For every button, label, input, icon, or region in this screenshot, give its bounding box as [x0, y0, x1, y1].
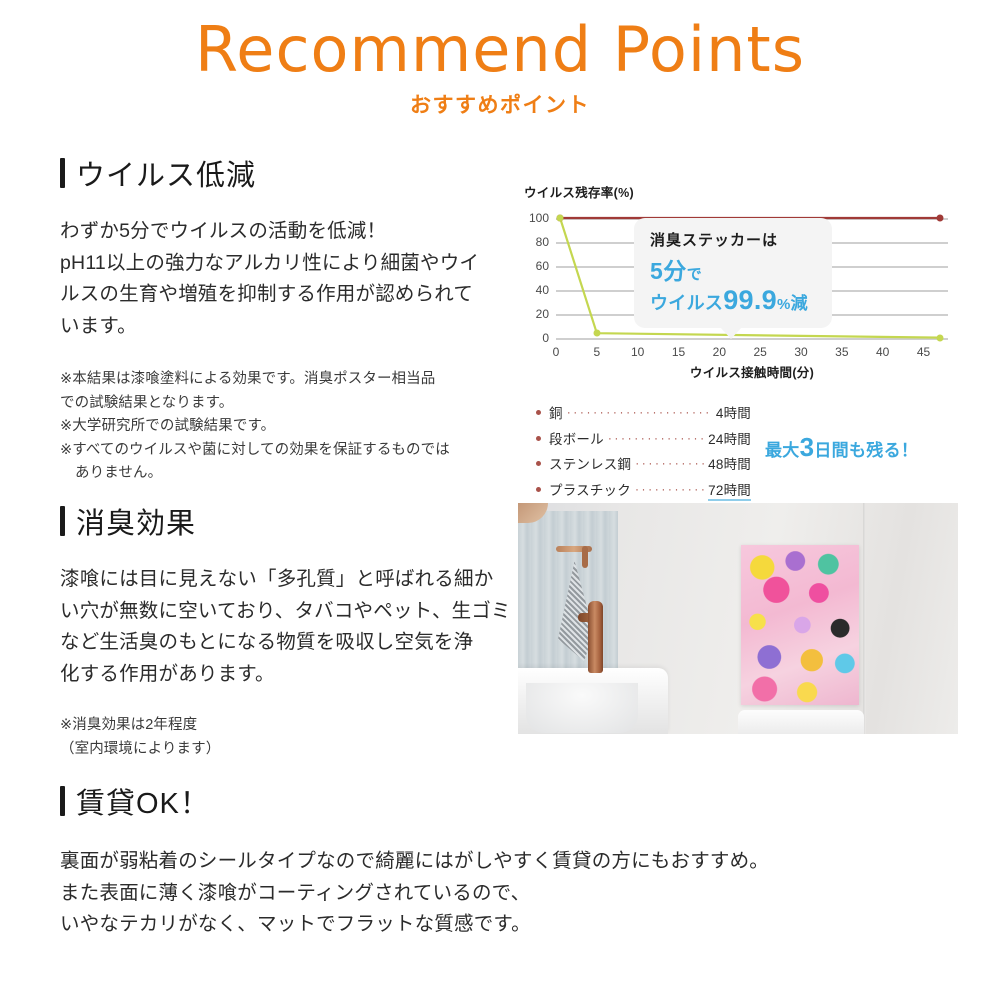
- section-heading: 消臭効果: [60, 500, 520, 542]
- sticker-collage-poster: [741, 545, 859, 705]
- leader-dots: ········································: [608, 431, 704, 445]
- chart-gridline: [556, 338, 948, 340]
- toilet-tank: [738, 710, 864, 734]
- body-line: います。: [60, 311, 520, 343]
- chart-y-axis-label: ウイルス残存率(%): [524, 182, 956, 201]
- chart-y-tick: 80: [536, 235, 549, 249]
- callout-percent-number: 99.9: [723, 285, 777, 315]
- bullet-dot-icon: [536, 461, 541, 466]
- bathroom-poster-photo: [518, 503, 958, 734]
- max-suffix: 日間も残る！: [814, 441, 918, 460]
- callout-minutes: 5分: [650, 258, 687, 284]
- chart-y-tick: 40: [536, 283, 549, 297]
- section-deodorizing-effect: 消臭効果 漆喰には目に見えない「多孔質」と呼ばれる細か い穴が無数に空いており、…: [60, 500, 520, 761]
- page-subtitle: おすすめポイント: [0, 89, 1000, 119]
- material-name: プラスチック: [549, 479, 631, 499]
- chart-data-point: [557, 215, 564, 222]
- material-duration: 4時間: [716, 402, 751, 422]
- callout-line-1: 消臭ステッカーは: [650, 229, 818, 250]
- note-line: ありません。: [60, 462, 520, 485]
- note-line: での試験結果となります。: [60, 392, 520, 415]
- note-line: ※大学研究所での試験結果です。: [60, 415, 520, 438]
- material-duration: 24時間: [708, 428, 751, 448]
- section-body: 裏面が弱粘着のシールタイプなので綺麗にはがしやすく賃貸の方にもおすすめ。 また表…: [60, 846, 940, 941]
- survival-row: 銅·······································…: [536, 402, 751, 422]
- leader-dots: ········································: [635, 482, 704, 496]
- infographic-page: Recommend Points おすすめポイント ウイルス低減 わずか5分でウ…: [0, 0, 1000, 1000]
- page-title: Recommend Points: [0, 18, 1000, 81]
- survival-row: プラスチック··································…: [536, 479, 751, 501]
- section-virus-reduction: ウイルス低減 わずか5分でウイルスの活動を低減！ pH11以上の強力なアルカリ性…: [60, 152, 520, 486]
- section-heading: ウイルス低減: [60, 152, 520, 194]
- sink-basin: [526, 683, 638, 733]
- body-line: ルスの生育や増殖を抑制する作用が認められて: [60, 279, 520, 311]
- chart-x-tick: 10: [631, 345, 644, 359]
- callout-line-3: ウイルス99.9%減: [650, 285, 818, 316]
- note-line: （室内環境によります）: [60, 738, 520, 761]
- survival-row: 段ボール····································…: [536, 428, 751, 448]
- chart-y-tick: 0: [542, 331, 549, 345]
- chart-x-tick: 20: [713, 345, 726, 359]
- callout-percent-sign: %: [777, 296, 791, 313]
- callout-minutes-tail: で: [687, 266, 703, 283]
- material-name: 段ボール: [549, 428, 604, 448]
- section-notes: ※本結果は漆喰塗料による効果です。消臭ポスター相当品 での試験結果となります。 …: [60, 368, 520, 485]
- chart-x-axis-label: ウイルス接触時間(分): [556, 362, 948, 381]
- body-line: わずか5分でウイルスの活動を低減！: [60, 216, 520, 248]
- section-title: 賃貸OK！: [76, 780, 210, 822]
- callout-reduce-kanji: 減: [791, 294, 808, 313]
- body-line: いやなテカリがなく、マットでフラットな質感です。: [60, 909, 940, 941]
- callout-virus-kana: ウイルス: [650, 293, 723, 313]
- material-duration: 72時間: [708, 479, 751, 501]
- bullet-dot-icon: [536, 410, 541, 415]
- leader-dots: ········································: [567, 405, 712, 419]
- max-duration-callout: 最大3日間も残る！: [765, 432, 918, 463]
- body-line: など生活臭のもとになる物質を吸収し空気を浄: [60, 627, 520, 659]
- body-line: また表面に薄く漆喰がコーティングされているので、: [60, 878, 940, 910]
- chart-x-tick: 35: [835, 345, 848, 359]
- bullet-dot-icon: [536, 436, 541, 441]
- wall-seam: [863, 503, 866, 734]
- bullet-dot-icon: [536, 487, 541, 492]
- body-line: 漆喰には目に見えない「多孔質」と呼ばれる細か: [60, 564, 520, 596]
- survival-duration-list: 銅·······································…: [536, 402, 751, 506]
- body-line: 化する作用があります。: [60, 659, 520, 691]
- section-body: わずか5分でウイルスの活動を低減！ pH11以上の強力なアルカリ性により細菌やウ…: [60, 216, 520, 342]
- note-line: ※消臭効果は2年程度: [60, 714, 520, 737]
- chart-plot-area: 020406080100051015202530354045 消臭ステッカーは …: [524, 210, 956, 370]
- body-line: pH11以上の強力なアルカリ性により細菌やウイ: [60, 248, 520, 280]
- note-line: ※すべてのウイルスや菌に対しての効果を保証するものでは: [60, 439, 520, 462]
- heading-accent-bar: [60, 786, 65, 816]
- callout-line-2: 5分で: [650, 252, 818, 286]
- chart-x-tick: 45: [917, 345, 930, 359]
- virus-survival-chart: ウイルス残存率(%) 02040608010005101520253035404…: [524, 182, 956, 370]
- section-heading: 賃貸OK！: [60, 780, 940, 822]
- chart-callout-bubble: 消臭ステッカーは 5分で ウイルス99.9%減: [634, 218, 832, 328]
- material-name: 銅: [549, 402, 563, 422]
- body-line: 裏面が弱粘着のシールタイプなので綺麗にはがしやすく賃貸の方にもおすすめ。: [60, 846, 940, 878]
- faucet-body: [588, 601, 603, 673]
- survival-row: ステンレス鋼··································…: [536, 453, 751, 473]
- section-title: ウイルス低減: [76, 152, 256, 194]
- chart-data-point: [936, 334, 943, 341]
- chart-x-tick: 0: [553, 345, 560, 359]
- section-rental-ok: 賃貸OK！ 裏面が弱粘着のシールタイプなので綺麗にはがしやすく賃貸の方にもおすす…: [60, 780, 940, 941]
- chart-x-tick: 30: [794, 345, 807, 359]
- heading-accent-bar: [60, 158, 65, 188]
- chart-x-tick: 5: [593, 345, 600, 359]
- section-notes: ※消臭効果は2年程度 （室内環境によります）: [60, 714, 520, 761]
- chart-y-tick: 20: [536, 307, 549, 321]
- chart-x-tick: 15: [672, 345, 685, 359]
- chart-y-tick: 60: [536, 259, 549, 273]
- leader-dots: ········································: [635, 456, 704, 470]
- section-title: 消臭効果: [76, 500, 196, 542]
- chart-data-point: [936, 215, 943, 222]
- heading-accent-bar: [60, 506, 65, 536]
- chart-x-tick: 25: [753, 345, 766, 359]
- material-duration: 48時間: [708, 453, 751, 473]
- chart-x-tick: 40: [876, 345, 889, 359]
- max-prefix: 最大: [765, 441, 800, 460]
- note-line: ※本結果は漆喰塗料による効果です。消臭ポスター相当品: [60, 368, 520, 391]
- body-line: い穴が無数に空いており、タバコやペット、生ゴミ: [60, 596, 520, 628]
- chart-y-tick: 100: [529, 211, 549, 225]
- max-days-number: 3: [800, 432, 815, 462]
- page-header: Recommend Points おすすめポイント: [0, 18, 1000, 119]
- material-name: ステンレス鋼: [549, 453, 631, 473]
- section-body: 漆喰には目に見えない「多孔質」と呼ばれる細か い穴が無数に空いており、タバコやペ…: [60, 564, 520, 690]
- chart-data-point: [593, 330, 600, 337]
- towel-hook-post: [582, 546, 588, 568]
